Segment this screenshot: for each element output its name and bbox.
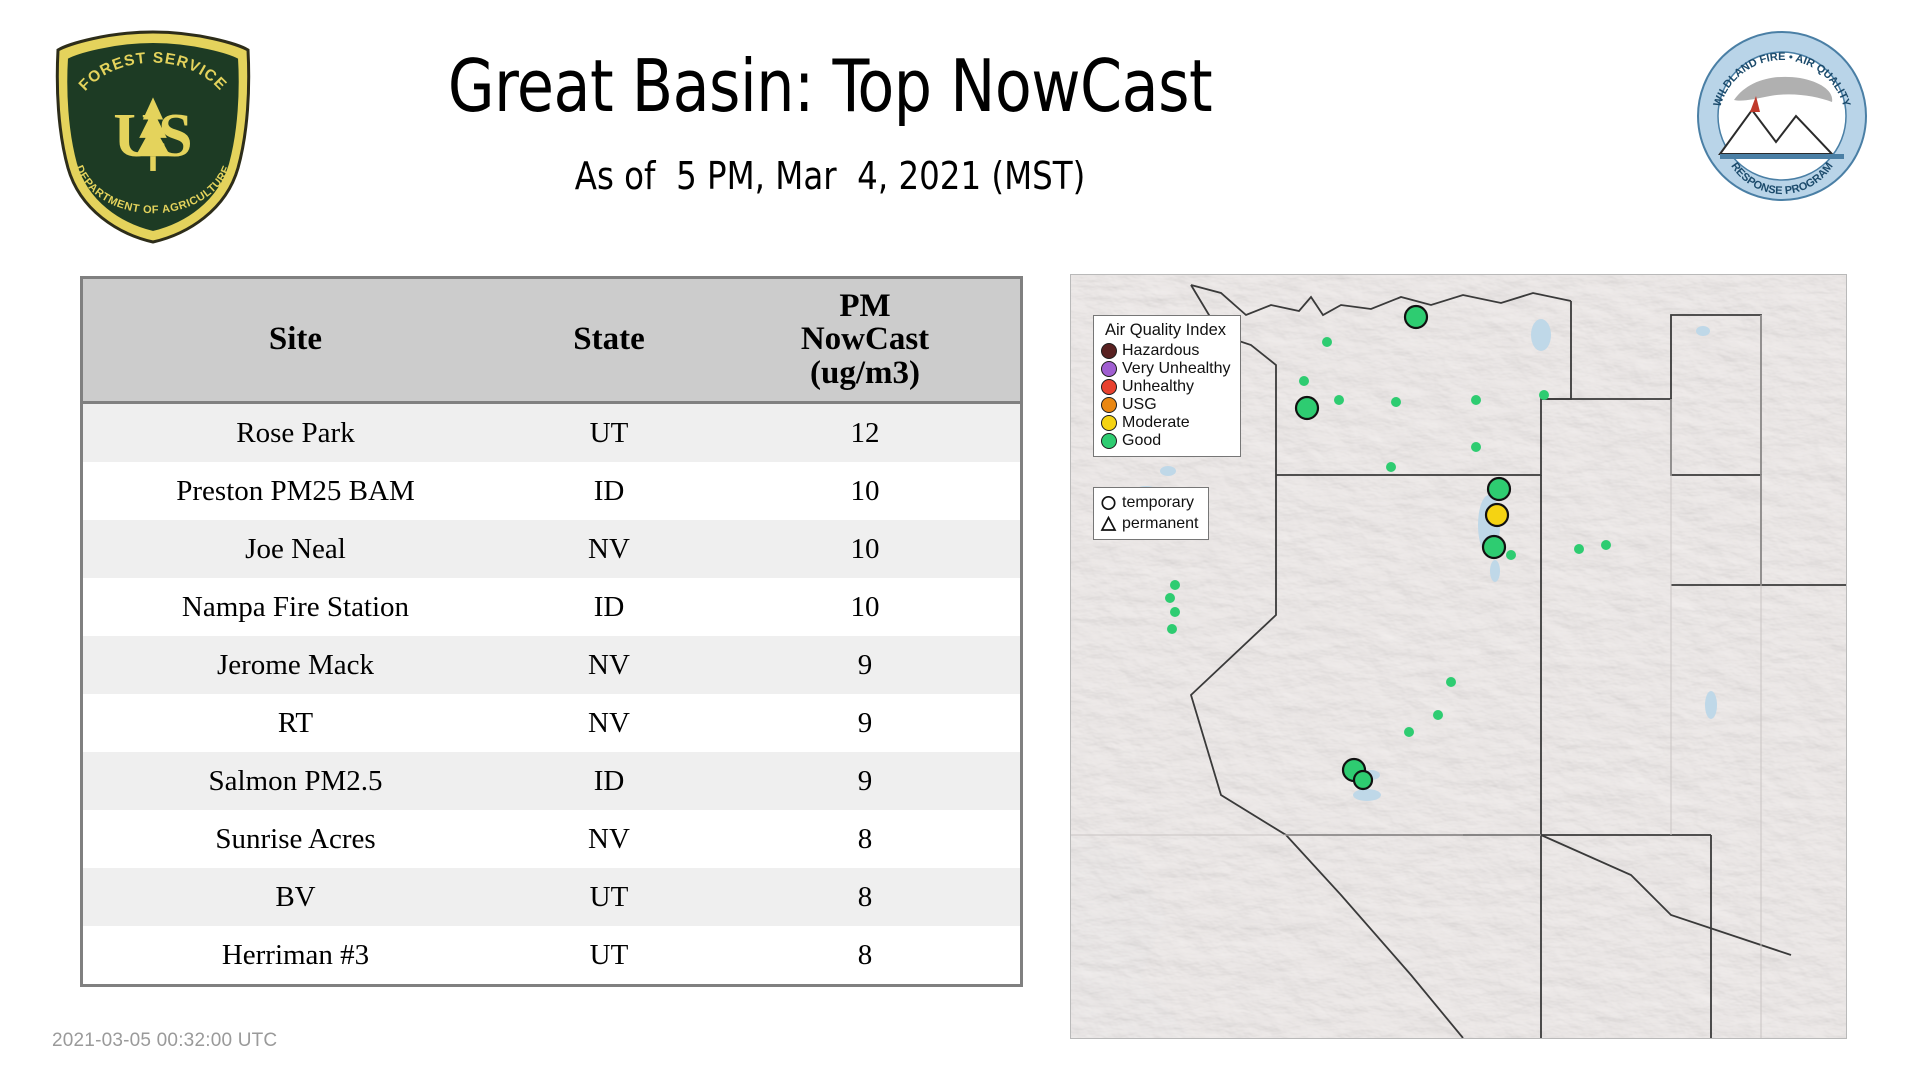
aqi-color-swatch-icon [1101, 397, 1117, 413]
page-subtitle: As of 5 PM, Mar 4, 2021 (MST) [355, 154, 1305, 198]
column-header-site: Site [82, 278, 509, 403]
station-marker[interactable] [1446, 677, 1456, 687]
aqi-legend-row: Unhealthy [1101, 378, 1231, 396]
cell-pm-nowcast: 10 [710, 520, 1022, 578]
station-marker[interactable] [1539, 390, 1549, 400]
aqi-color-swatch-icon [1101, 379, 1117, 395]
table-header-row: Site State PM NowCast (ug/m3) [82, 278, 1022, 403]
cell-state: ID [508, 752, 710, 810]
cell-pm-nowcast: 12 [710, 403, 1022, 463]
pm-header-line-1: PM [839, 288, 890, 324]
table-row: Preston PM25 BAMID10 [82, 462, 1022, 520]
symbol-legend-label-temporary: temporary [1122, 495, 1194, 511]
column-header-pm-nowcast: PM NowCast (ug/m3) [710, 278, 1022, 403]
station-marker[interactable] [1299, 376, 1309, 386]
aqi-legend-label: Unhealthy [1122, 379, 1194, 395]
wfaqrp-program-badge: WILDLAND FIRE • AIR QUALITY RESPONSE PRO… [1696, 30, 1868, 202]
footer-timestamp: 2021-03-05 00:32:00 UTC [52, 1030, 277, 1052]
symbol-legend-row-temporary: temporary [1100, 492, 1199, 513]
station-marker[interactable] [1471, 442, 1481, 452]
station-marker[interactable] [1170, 607, 1180, 617]
aqi-legend-label: Hazardous [1122, 343, 1199, 359]
table-row: Joe NealNV10 [82, 520, 1022, 578]
table-row: Jerome MackNV9 [82, 636, 1022, 694]
table-row: Sunrise AcresNV8 [82, 810, 1022, 868]
air-quality-map[interactable]: Air Quality Index HazardousVery Unhealth… [1070, 274, 1847, 1039]
circle-marker-icon [1100, 494, 1117, 512]
aqi-legend-row: USG [1101, 396, 1231, 414]
title-block: Great Basin: Top NowCast As of 5 PM, Mar… [330, 50, 1330, 198]
cell-site: BV [82, 868, 509, 926]
aqi-color-swatch-icon [1101, 433, 1117, 449]
station-marker[interactable] [1601, 540, 1611, 550]
symbol-legend-label-permanent: permanent [1122, 516, 1199, 532]
cell-pm-nowcast: 8 [710, 926, 1022, 986]
aqi-legend-row: Hazardous [1101, 342, 1231, 360]
cell-site: Herriman #3 [82, 926, 509, 986]
station-marker[interactable] [1404, 727, 1414, 737]
aqi-color-swatch-icon [1101, 361, 1117, 377]
cell-state: UT [508, 926, 710, 986]
triangle-marker-icon [1100, 515, 1117, 533]
cell-site: Nampa Fire Station [82, 578, 509, 636]
pm-header-line-3: (ug/m3) [810, 355, 920, 391]
cell-pm-nowcast: 10 [710, 578, 1022, 636]
station-marker[interactable] [1574, 544, 1584, 554]
station-marker[interactable] [1167, 624, 1177, 634]
cell-site: Jerome Mack [82, 636, 509, 694]
cell-state: NV [508, 694, 710, 752]
cell-pm-nowcast: 10 [710, 462, 1022, 520]
aqi-legend-label: USG [1122, 397, 1157, 413]
cell-site: Sunrise Acres [82, 810, 509, 868]
cell-pm-nowcast: 9 [710, 694, 1022, 752]
table-row: BVUT8 [82, 868, 1022, 926]
cell-pm-nowcast: 9 [710, 752, 1022, 810]
station-marker[interactable] [1486, 504, 1508, 526]
cell-site: Salmon PM2.5 [82, 752, 509, 810]
cell-state: ID [508, 462, 710, 520]
station-marker[interactable] [1170, 580, 1180, 590]
cell-state: ID [508, 578, 710, 636]
station-marker[interactable] [1506, 550, 1516, 560]
aqi-legend-label: Good [1122, 433, 1161, 449]
column-header-state: State [508, 278, 710, 403]
table-row: RTNV9 [82, 694, 1022, 752]
station-marker[interactable] [1334, 395, 1344, 405]
aqi-legend-items: HazardousVery UnhealthyUnhealthyUSGModer… [1101, 342, 1231, 450]
aqi-legend-row: Moderate [1101, 414, 1231, 432]
cell-state: NV [508, 636, 710, 694]
aqi-legend: Air Quality Index HazardousVery Unhealth… [1093, 315, 1241, 457]
aqi-color-swatch-icon [1101, 343, 1117, 359]
pm-header-line-2: NowCast [801, 321, 929, 357]
station-marker[interactable] [1322, 337, 1332, 347]
table-body: Rose ParkUT12Preston PM25 BAMID10Joe Nea… [82, 403, 1022, 986]
table-row: Nampa Fire StationID10 [82, 578, 1022, 636]
station-marker[interactable] [1471, 395, 1481, 405]
cell-site: RT [82, 694, 509, 752]
aqi-legend-row: Very Unhealthy [1101, 360, 1231, 378]
cell-pm-nowcast: 8 [710, 810, 1022, 868]
table-row: Salmon PM2.5ID9 [82, 752, 1022, 810]
aqi-legend-label: Very Unhealthy [1122, 361, 1231, 377]
station-marker[interactable] [1391, 397, 1401, 407]
station-marker[interactable] [1433, 710, 1443, 720]
cell-site: Preston PM25 BAM [82, 462, 509, 520]
station-marker[interactable] [1296, 397, 1318, 419]
cell-state: NV [508, 810, 710, 868]
station-marker[interactable] [1405, 306, 1427, 328]
cell-pm-nowcast: 8 [710, 868, 1022, 926]
cell-state: UT [508, 403, 710, 463]
symbol-legend: temporary permanent [1093, 487, 1209, 540]
cell-site: Joe Neal [82, 520, 509, 578]
station-marker[interactable] [1165, 593, 1175, 603]
aqi-legend-row: Good [1101, 432, 1231, 450]
cell-state: UT [508, 868, 710, 926]
station-marker[interactable] [1488, 478, 1510, 500]
page-header: FOREST SERVICE US DEPARTMENT OF AGRICULT… [0, 0, 1920, 260]
table-row: Rose ParkUT12 [82, 403, 1022, 463]
cell-state: NV [508, 520, 710, 578]
cell-site: Rose Park [82, 403, 509, 463]
nowcast-table: Site State PM NowCast (ug/m3) Rose ParkU… [80, 276, 1023, 987]
aqi-legend-label: Moderate [1122, 415, 1190, 431]
cell-pm-nowcast: 9 [710, 636, 1022, 694]
aqi-color-swatch-icon [1101, 415, 1117, 431]
symbol-legend-row-permanent: permanent [1100, 513, 1199, 534]
nowcast-table-container: Site State PM NowCast (ug/m3) Rose ParkU… [80, 276, 990, 987]
station-marker[interactable] [1354, 771, 1372, 789]
page-title: Great Basin: Top NowCast [365, 50, 1295, 122]
usfs-shield-logo: FOREST SERVICE US DEPARTMENT OF AGRICULT… [48, 28, 258, 246]
station-marker[interactable] [1386, 462, 1396, 472]
table-row: Herriman #3UT8 [82, 926, 1022, 986]
table-head: Site State PM NowCast (ug/m3) [82, 278, 1022, 403]
station-marker[interactable] [1483, 536, 1505, 558]
aqi-legend-title: Air Quality Index [1105, 321, 1231, 340]
